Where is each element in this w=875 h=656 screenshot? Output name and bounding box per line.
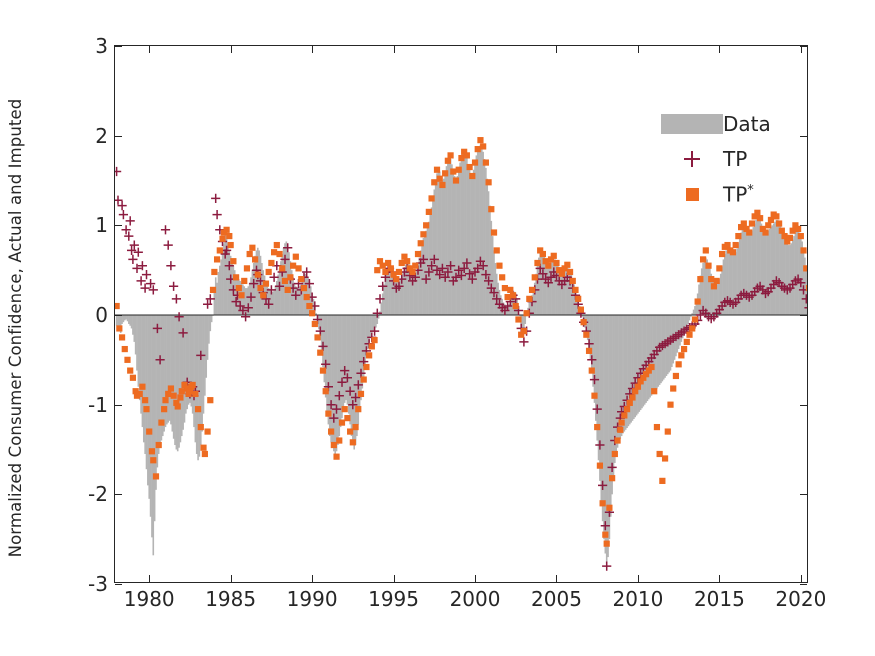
tp-star-marker	[279, 265, 285, 271]
tp-star-marker	[434, 167, 440, 173]
tp-star-marker	[483, 159, 489, 165]
data-bar	[211, 315, 213, 322]
tp-star-marker	[711, 283, 717, 289]
tp-star-marker	[439, 182, 445, 188]
tp-star-marker	[328, 428, 334, 434]
tp-star-marker	[431, 179, 437, 185]
tp-star-marker	[219, 236, 225, 242]
x-tick-mark	[638, 575, 639, 582]
tp-star-marker	[437, 176, 443, 182]
tp-star-marker	[293, 254, 299, 260]
data-bar	[541, 250, 543, 315]
x-tick-mark	[394, 575, 395, 582]
tp-marker	[166, 261, 175, 270]
x-tick-mark-top	[394, 46, 395, 53]
x-tick-mark-top	[312, 46, 313, 53]
tp-star-marker	[423, 222, 429, 228]
data-bar	[799, 233, 801, 315]
data-bar	[129, 315, 131, 326]
tp-star-marker	[161, 406, 167, 412]
tp-star-marker	[342, 406, 348, 412]
tp-marker	[119, 210, 128, 219]
tp-star-marker	[143, 406, 149, 412]
tp-star-marker	[464, 152, 470, 158]
tp-star-marker	[488, 206, 494, 212]
tp-star-marker	[779, 228, 785, 234]
data-bar	[761, 224, 763, 315]
data-bar	[174, 315, 176, 445]
y-tick-mark	[115, 494, 122, 495]
tp-star-marker	[765, 222, 771, 228]
tp-star-marker	[768, 217, 774, 223]
tp-star-marker	[393, 276, 399, 282]
y-tick-label: 0	[95, 303, 108, 327]
tp-star-marker	[366, 352, 372, 358]
x-tick-mark-top	[149, 46, 150, 53]
tp-marker	[164, 241, 173, 250]
tp-star-marker	[735, 233, 741, 239]
tp-star-marker	[146, 428, 152, 434]
x-tick-label: 2000	[450, 587, 501, 611]
tp-star-marker	[575, 296, 581, 302]
tp-star-marker	[719, 251, 725, 257]
tp-star-marker	[122, 346, 128, 352]
x-tick-label: 2020	[775, 587, 826, 611]
tp-star-marker	[168, 385, 174, 391]
data-bar	[755, 220, 757, 315]
y-tick-label: -3	[88, 572, 108, 596]
tp-star-marker	[325, 411, 331, 417]
tp-star-marker	[754, 210, 760, 216]
data-bar	[224, 233, 226, 315]
tp-star-marker	[244, 265, 250, 271]
data-bar	[138, 315, 140, 387]
tp-marker	[118, 201, 127, 210]
tp-star-marker	[553, 260, 559, 266]
tp-star-marker	[336, 437, 342, 443]
x-tick-mark	[719, 575, 720, 582]
tp-marker	[137, 276, 146, 285]
tp-star-marker	[260, 292, 266, 298]
tp-star-marker	[447, 152, 453, 158]
tp-star-marker	[746, 229, 752, 235]
x-tick-label: 1985	[205, 587, 256, 611]
x-tick-mark-top	[801, 46, 802, 53]
tp-star-marker	[776, 220, 782, 226]
tp-star-marker	[282, 278, 288, 284]
tp-star-marker	[678, 352, 684, 358]
legend-item-data: Data	[661, 112, 851, 135]
data-bar	[770, 227, 772, 315]
tp-star-marker	[252, 256, 258, 262]
data-bar	[135, 315, 137, 354]
data-bar	[550, 263, 552, 315]
tp-star-marker	[545, 263, 551, 269]
x-tick-mark-top	[475, 46, 476, 53]
data-bar	[765, 233, 767, 315]
tp-star-marker	[223, 227, 229, 233]
tp-marker	[141, 284, 150, 293]
tp-marker	[115, 167, 121, 176]
tp-star-marker	[708, 276, 714, 282]
tp-star-marker	[572, 287, 578, 293]
data-bar	[193, 315, 195, 427]
tp-star-marker	[485, 179, 491, 185]
tp-star-marker	[263, 281, 269, 287]
data-bar	[127, 315, 129, 321]
tp-star-marker	[589, 367, 595, 373]
tp-star-marker	[803, 265, 807, 271]
tp-star-marker	[124, 357, 130, 363]
x-tick-label: 2005	[531, 587, 582, 611]
data-bar	[774, 222, 776, 315]
tp-star-marker	[290, 263, 296, 269]
x-tick-label: 1990	[287, 587, 338, 611]
tp-star-marker	[374, 267, 380, 273]
tp-marker	[128, 255, 137, 264]
tp-star-marker	[171, 393, 177, 399]
tp-star-marker	[581, 319, 587, 325]
tp-star-marker	[532, 274, 538, 280]
tp-star-marker	[502, 285, 508, 291]
tp-star-marker	[355, 406, 361, 412]
tp-star-marker	[426, 209, 432, 215]
tp-star-marker	[676, 361, 682, 367]
tp-star-marker	[724, 242, 730, 248]
tp-star-marker	[358, 391, 364, 397]
tp-star-marker	[323, 388, 329, 394]
tp-star-marker	[773, 213, 779, 219]
x-tick-mark	[149, 575, 150, 582]
tp-star-marker	[156, 442, 162, 448]
tp-star-marker	[730, 249, 736, 255]
data-bar	[143, 315, 145, 442]
data-bar	[218, 272, 220, 315]
tp-star-marker	[295, 265, 301, 271]
tp-star-marker	[304, 294, 310, 300]
tp-star-marker	[115, 303, 120, 309]
data-bar	[199, 315, 201, 457]
tp-star-marker	[192, 391, 198, 397]
tp-star-marker	[635, 384, 641, 390]
x-tick-mark	[312, 575, 313, 582]
tp-star-marker	[347, 428, 353, 434]
data-bar	[634, 315, 636, 417]
tp-star-marker	[249, 245, 255, 251]
y-tick-mark-right	[800, 225, 807, 226]
tp-star-marker	[200, 445, 206, 451]
tp-star-marker	[689, 325, 695, 331]
data-bar	[230, 256, 232, 315]
tp-star-marker	[534, 260, 540, 266]
tp-star-marker	[420, 231, 426, 237]
tp-star-marker	[211, 269, 217, 275]
tp-star-marker	[621, 412, 627, 418]
tp-star-marker	[380, 263, 386, 269]
y-tick-label: -1	[88, 393, 108, 417]
tp-star-marker	[600, 500, 606, 506]
tp-star-marker	[466, 164, 472, 170]
data-bar	[220, 259, 222, 315]
tp-star-marker	[507, 287, 513, 293]
tp-star-marker	[139, 384, 145, 390]
y-tick-mark-right	[800, 315, 807, 316]
tp-marker	[169, 282, 178, 291]
tp-star-marker	[629, 394, 635, 400]
data-bar	[524, 315, 526, 324]
data-bar	[736, 249, 738, 315]
data-bar	[142, 315, 144, 427]
tp-star-marker	[787, 235, 793, 241]
y-tick-mark	[115, 584, 122, 585]
tp-marker	[142, 270, 151, 279]
tp-star-marker	[494, 247, 500, 253]
tp-star-marker	[654, 424, 660, 430]
tp-star-marker	[559, 271, 565, 277]
data-bar	[687, 315, 689, 324]
tp-star-marker	[673, 373, 679, 379]
tp-star-marker	[540, 251, 546, 257]
tp-star-marker	[396, 269, 402, 275]
data-bar	[780, 225, 782, 315]
tp-star-marker	[344, 415, 350, 421]
x-tick-mark	[801, 575, 802, 582]
x-tick-label: 2015	[694, 587, 745, 611]
tp-star-marker	[255, 272, 261, 278]
tp-star-marker	[800, 247, 806, 253]
tp-star-marker	[285, 287, 291, 293]
tp-star-marker	[388, 265, 394, 271]
data-bar	[155, 315, 157, 490]
tp-star-marker	[697, 276, 703, 282]
tp-star-marker	[137, 391, 143, 397]
tp-star-marker	[179, 388, 185, 394]
tp-star-marker	[298, 276, 304, 282]
tp-star-marker	[177, 394, 183, 400]
tp-star-marker	[472, 159, 478, 165]
tp-star-marker	[361, 376, 367, 382]
tp-star-marker	[287, 274, 293, 280]
tp-star-marker	[477, 137, 483, 143]
y-tick-label: -2	[88, 482, 108, 506]
data-bar	[201, 315, 203, 432]
tp-star-marker	[274, 242, 280, 248]
tp-marker	[213, 210, 222, 219]
tp-star-marker	[314, 334, 320, 340]
tp-marker	[161, 225, 170, 234]
square-marker-icon	[661, 188, 723, 201]
tp-star-marker	[749, 220, 755, 226]
x-tick-label: 2010	[612, 587, 663, 611]
data-bar	[560, 272, 562, 315]
tp-star-marker	[648, 364, 654, 370]
y-tick-mark-right	[800, 494, 807, 495]
tp-star-marker	[695, 298, 701, 304]
tp-star-marker	[798, 233, 804, 239]
tp-star-marker	[371, 337, 377, 343]
tp-star-marker	[331, 442, 337, 448]
tp-star-marker	[524, 310, 530, 316]
tp-star-marker	[614, 437, 620, 443]
tp-star-marker	[705, 263, 711, 269]
x-tick-mark-top	[231, 46, 232, 53]
x-tick-mark-top	[719, 46, 720, 53]
legend-label-tp-star: TP*	[723, 184, 754, 205]
data-bar	[140, 315, 142, 414]
tp-star-marker	[681, 346, 687, 352]
tp-star-marker	[207, 397, 213, 403]
chart-figure: Normalized Consumer Confidence, Actual a…	[0, 0, 875, 656]
tp-star-marker	[247, 251, 253, 257]
data-bar	[171, 315, 173, 432]
tp-star-marker	[651, 388, 657, 394]
tp-star-marker	[450, 168, 456, 174]
tp-star-marker	[158, 420, 164, 426]
y-tick-label: 3	[95, 34, 108, 58]
tp-star-marker	[700, 256, 706, 262]
tp-star-marker	[741, 220, 747, 226]
y-tick-mark-right	[800, 584, 807, 585]
tp-star-marker	[363, 364, 369, 370]
tp-star-marker	[369, 343, 375, 349]
tp-star-marker	[604, 541, 610, 547]
y-tick-label: 1	[95, 213, 108, 237]
data-bar	[638, 315, 640, 412]
data-bar	[163, 315, 165, 432]
data-bar	[208, 315, 210, 344]
tp-star-marker	[692, 316, 698, 322]
tp-star-marker	[162, 397, 168, 403]
tp-star-marker	[684, 339, 690, 345]
data-bar	[159, 315, 161, 448]
x-tick-label: 1995	[368, 587, 419, 611]
tp-star-marker	[333, 454, 339, 460]
tp-star-marker	[428, 195, 434, 201]
tp-star-marker	[306, 303, 312, 309]
tp-star-marker	[150, 457, 156, 463]
tp-star-marker	[350, 439, 356, 445]
tp-star-marker	[456, 167, 462, 173]
tp-marker	[602, 562, 611, 571]
tp-star-marker	[119, 334, 125, 340]
tp-star-marker	[175, 403, 181, 409]
tp-star-marker	[567, 269, 573, 275]
data-bar	[154, 315, 156, 521]
data-bar	[158, 315, 160, 454]
tp-star-marker	[665, 428, 671, 434]
tp-star-marker	[469, 173, 475, 179]
tp-star-marker	[241, 278, 247, 284]
tp-star-marker	[210, 287, 216, 293]
tp-star-marker	[662, 455, 668, 461]
tp-star-marker	[301, 285, 307, 291]
tp-star-marker	[505, 294, 511, 300]
data-bar	[599, 315, 601, 481]
x-tick-mark	[475, 575, 476, 582]
tp-star-marker	[453, 177, 459, 183]
data-bar	[196, 315, 198, 454]
tp-star-marker	[762, 229, 768, 235]
tp-star-marker	[238, 292, 244, 298]
tp-star-marker	[153, 473, 159, 479]
tp-star-marker	[198, 424, 204, 430]
tp-star-marker	[266, 269, 272, 275]
tp-star-marker	[551, 253, 557, 259]
tp-star-marker	[409, 269, 415, 275]
tp-star-marker	[312, 321, 318, 327]
tp-star-marker	[670, 385, 676, 391]
tp-star-marker	[515, 316, 521, 322]
tp-star-marker	[612, 451, 618, 457]
tp-star-marker	[757, 215, 763, 221]
tp-star-marker	[415, 251, 421, 257]
tp-star-marker	[703, 247, 709, 253]
tp-star-marker	[320, 367, 326, 373]
tp-star-marker	[271, 249, 277, 255]
tp-star-marker	[228, 242, 234, 248]
tp-marker	[519, 337, 528, 346]
tp-star-marker	[617, 427, 623, 433]
legend-item-tp: TP	[661, 147, 851, 170]
tp-star-marker	[583, 332, 589, 338]
tp-star-marker	[236, 285, 242, 291]
tp-star-marker	[276, 251, 282, 257]
tp-star-marker	[578, 307, 584, 313]
tp-star-marker	[521, 328, 527, 334]
tp-star-marker	[214, 256, 220, 262]
tp-star-marker	[781, 233, 787, 239]
tp-star-marker	[624, 406, 630, 412]
tp-marker	[211, 194, 220, 203]
tp-star-marker	[606, 505, 612, 511]
tp-star-marker	[418, 240, 424, 246]
data-bar	[152, 315, 154, 555]
tp-star-marker	[412, 263, 418, 269]
x-tick-mark-top	[556, 46, 557, 53]
tp-star-marker	[317, 350, 323, 356]
tp-star-marker	[165, 391, 171, 397]
tp-star-marker	[230, 258, 236, 264]
tp-star-marker	[404, 258, 410, 264]
tp-star-marker	[233, 274, 239, 280]
data-bar	[731, 252, 733, 315]
y-tick-label: 2	[95, 124, 108, 148]
data-bar	[214, 290, 216, 315]
x-tick-mark	[556, 575, 557, 582]
plus-marker-icon	[661, 151, 723, 167]
tp-star-marker	[226, 233, 232, 239]
x-tick-label: 1980	[124, 587, 175, 611]
tp-star-marker	[195, 406, 201, 412]
tp-star-marker	[529, 287, 535, 293]
x-tick-mark	[231, 575, 232, 582]
tp-marker	[172, 294, 181, 303]
x-tick-mark-top	[638, 46, 639, 53]
tp-star-marker	[714, 278, 720, 284]
data-bar	[131, 315, 133, 328]
data-bar	[215, 277, 217, 315]
tp-star-marker	[526, 296, 532, 302]
tp-star-marker	[217, 247, 223, 253]
y-tick-mark	[115, 405, 122, 406]
tp-star-marker	[190, 382, 196, 388]
tp-star-marker	[130, 375, 136, 381]
tp-star-marker	[127, 367, 133, 373]
tp-star-marker	[475, 146, 481, 152]
tp-star-marker	[627, 400, 633, 406]
y-tick-mark	[115, 315, 122, 316]
tp-star-marker	[602, 532, 608, 538]
